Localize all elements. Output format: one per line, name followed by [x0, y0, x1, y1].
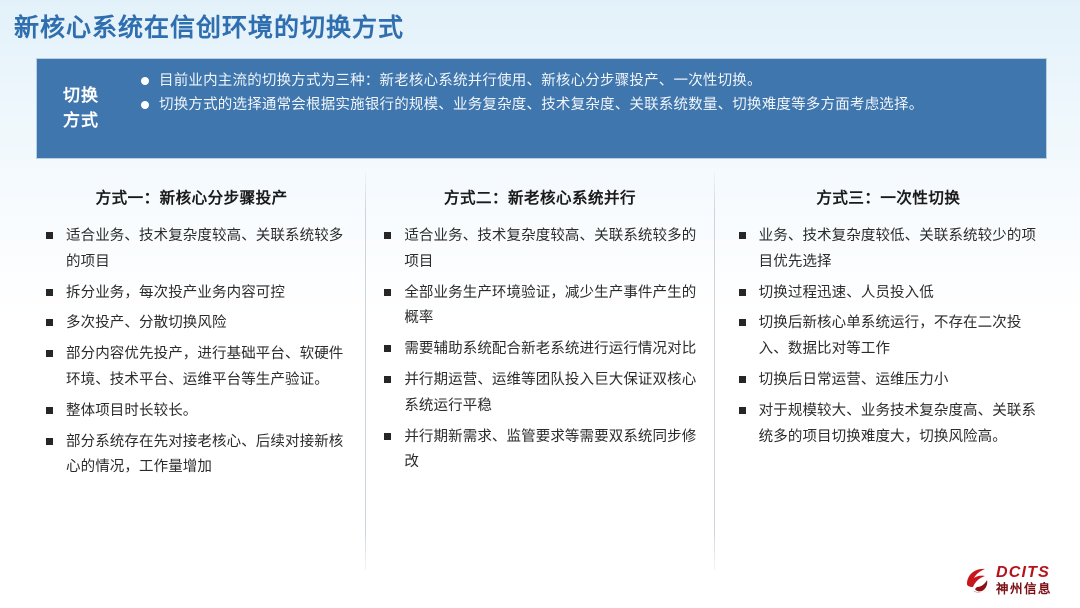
- list-item: 目前业内主流的切换方式为三种：新老核心系统并行使用、新核心分步骤投产、一次性切换…: [139, 70, 1032, 93]
- bullet-text: 多次投产、分散切换风险: [66, 315, 227, 331]
- list-item: 适合业务、技术复杂度较高、关联系统较多的项目: [382, 224, 699, 276]
- bullet-text: 需要辅助系统配合新老系统进行运行情况对比: [404, 341, 696, 357]
- bullet-square-icon: [384, 376, 391, 383]
- company-logo: DCITS 神州信息: [962, 558, 1072, 602]
- summary-panel-label: 切换 方式: [37, 59, 125, 158]
- bullet-text: 适合业务、技术复杂度较高、关联系统较多的项目: [404, 228, 696, 270]
- list-item: 拆分业务，每次投产业务内容可控: [44, 281, 351, 307]
- list-item: 切换后日常运营、运维压力小: [737, 368, 1048, 394]
- page-title: 新核心系统在信创环境的切换方式: [14, 8, 404, 44]
- bullet-square-icon: [739, 232, 746, 239]
- bullet-text: 切换过程迅速、人员投入低: [759, 285, 934, 301]
- bullet-text: 适合业务、技术复杂度较高、关联系统较多的项目: [66, 228, 343, 270]
- summary-bullet-text: 目前业内主流的切换方式为三种：新老核心系统并行使用、新核心分步骤投产、一次性切换…: [159, 73, 762, 89]
- list-item: 全部业务生产环境验证，减少生产事件产生的概率: [382, 281, 699, 333]
- bullet-text: 切换后日常运营、运维压力小: [759, 372, 949, 388]
- list-item: 整体项目时长较长。: [44, 399, 351, 425]
- bullet-square-icon: [384, 232, 391, 239]
- column-method-two: 方式二：新老核心系统并行 适合业务、技术复杂度较高、关联系统较多的项目 全部业务…: [366, 172, 713, 570]
- dcits-swirl-icon: [962, 564, 994, 596]
- bullet-text: 整体项目时长较长。: [66, 403, 197, 419]
- bullet-square-icon: [384, 433, 391, 440]
- bullet-text: 全部业务生产环境验证，减少生产事件产生的概率: [404, 285, 696, 327]
- bullet-square-icon: [46, 289, 53, 296]
- bullet-dot-icon: [141, 101, 149, 109]
- bullet-square-icon: [739, 319, 746, 326]
- bullet-dot-icon: [141, 77, 149, 85]
- bullet-text: 切换后新核心单系统运行，不存在二次投入、数据比对等工作: [759, 315, 1022, 357]
- summary-bullet-text: 切换方式的选择通常会根据实施银行的规模、业务复杂度、技术复杂度、关联系统数量、切…: [159, 97, 923, 113]
- bullet-square-icon: [384, 345, 391, 352]
- column-bullet-list: 适合业务、技术复杂度较高、关联系统较多的项目 拆分业务，每次投产业务内容可控 多…: [44, 224, 351, 481]
- bullet-text: 对于规模较大、业务技术复杂度高、关联系统多的项目切换难度大，切换风险高。: [759, 403, 1036, 445]
- column-bullet-list: 业务、技术复杂度较低、关联系统较少的项目优先选择 切换过程迅速、人员投入低 切换…: [737, 224, 1048, 450]
- comparison-columns: 方式一：新核心分步骤投产 适合业务、技术复杂度较高、关联系统较多的项目 拆分业务…: [18, 172, 1062, 570]
- bullet-square-icon: [46, 232, 53, 239]
- bullet-text: 业务、技术复杂度较低、关联系统较少的项目优先选择: [759, 228, 1036, 270]
- column-title: 方式一：新核心分步骤投产: [32, 186, 351, 208]
- bullet-square-icon: [739, 407, 746, 414]
- list-item: 部分内容优先投产，进行基础平台、软硬件环境、技术平台、运维平台等生产验证。: [44, 342, 351, 394]
- summary-label-line-1: 切换: [63, 84, 99, 109]
- summary-panel: 切换 方式 目前业内主流的切换方式为三种：新老核心系统并行使用、新核心分步骤投产…: [36, 58, 1047, 159]
- summary-bullet-list: 目前业内主流的切换方式为三种：新老核心系统并行使用、新核心分步骤投产、一次性切换…: [125, 59, 1046, 158]
- bullet-text: 并行期新需求、监管要求等需要双系统同步修改: [404, 429, 696, 471]
- list-item: 适合业务、技术复杂度较高、关联系统较多的项目: [44, 224, 351, 276]
- logo-text-block: DCITS 神州信息: [996, 565, 1052, 596]
- list-item: 部分系统存在先对接老核心、后续对接新核心的情况，工作量增加: [44, 430, 351, 482]
- list-item: 并行期运营、运维等团队投入巨大保证双核心系统运行平稳: [382, 368, 699, 420]
- bullet-text: 并行期运营、运维等团队投入巨大保证双核心系统运行平稳: [404, 372, 696, 414]
- column-title: 方式三：一次性切换: [729, 186, 1048, 208]
- bullet-square-icon: [739, 289, 746, 296]
- list-item: 并行期新需求、监管要求等需要双系统同步修改: [382, 425, 699, 477]
- column-title: 方式二：新老核心系统并行: [380, 186, 699, 208]
- bullet-square-icon: [46, 407, 53, 414]
- list-item: 切换方式的选择通常会根据实施银行的规模、业务复杂度、技术复杂度、关联系统数量、切…: [139, 94, 1032, 117]
- list-item: 需要辅助系统配合新老系统进行运行情况对比: [382, 337, 699, 363]
- logo-en-name: DCITS: [996, 565, 1052, 581]
- bullet-square-icon: [46, 319, 53, 326]
- list-item: 切换过程迅速、人员投入低: [737, 281, 1048, 307]
- list-item: 对于规模较大、业务技术复杂度高、关联系统多的项目切换难度大，切换风险高。: [737, 399, 1048, 451]
- bullet-square-icon: [46, 350, 53, 357]
- bullet-text: 部分系统存在先对接老核心、后续对接新核心的情况，工作量增加: [66, 434, 343, 476]
- list-item: 多次投产、分散切换风险: [44, 311, 351, 337]
- column-method-three: 方式三：一次性切换 业务、技术复杂度较低、关联系统较少的项目优先选择 切换过程迅…: [715, 172, 1062, 570]
- bullet-square-icon: [46, 438, 53, 445]
- summary-label-line-2: 方式: [63, 109, 99, 134]
- list-item: 业务、技术复杂度较低、关联系统较少的项目优先选择: [737, 224, 1048, 276]
- column-method-one: 方式一：新核心分步骤投产 适合业务、技术复杂度较高、关联系统较多的项目 拆分业务…: [18, 172, 365, 570]
- bullet-text: 拆分业务，每次投产业务内容可控: [66, 285, 285, 301]
- bullet-text: 部分内容优先投产，进行基础平台、软硬件环境、技术平台、运维平台等生产验证。: [66, 346, 343, 388]
- column-bullet-list: 适合业务、技术复杂度较高、关联系统较多的项目 全部业务生产环境验证，减少生产事件…: [382, 224, 699, 476]
- list-item: 切换后新核心单系统运行，不存在二次投入、数据比对等工作: [737, 311, 1048, 363]
- bullet-square-icon: [384, 289, 391, 296]
- logo-cn-name: 神州信息: [996, 583, 1052, 596]
- bullet-square-icon: [739, 376, 746, 383]
